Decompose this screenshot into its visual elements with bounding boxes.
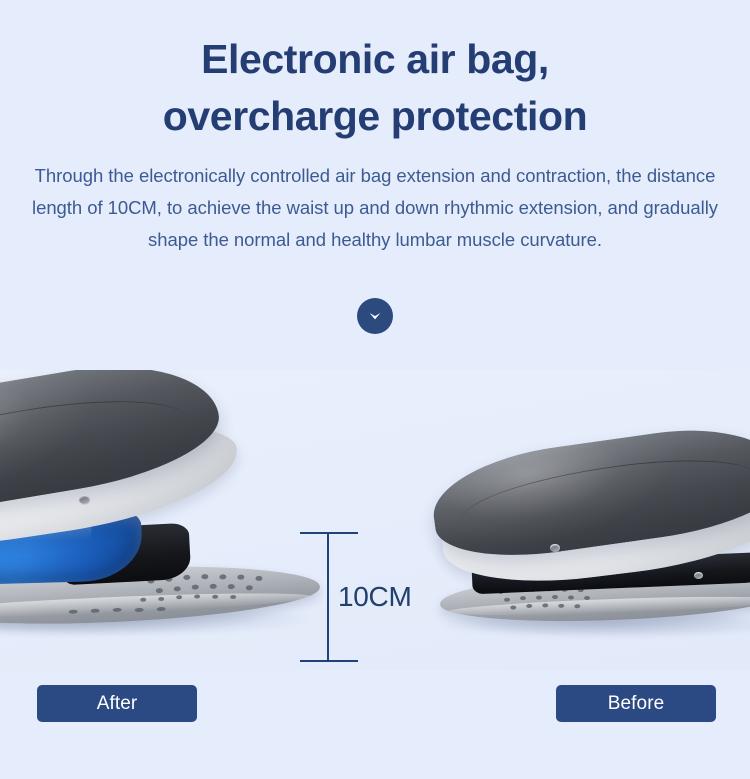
measurement-line-vertical [327,532,329,662]
tray-perforation [201,574,208,579]
tray-perforation [504,598,510,602]
measurement-label: 10CM [338,583,412,611]
tray-perforation [219,574,226,579]
measurement-tick-bottom [300,660,358,662]
device-before-port-dimple [550,544,560,552]
tray-perforation [552,595,558,599]
device-before [420,432,750,642]
page-subtitle: Through the electronically controlled ai… [25,144,725,255]
device-after-port-dimple [79,495,90,504]
tray-perforation [536,596,542,600]
page-title-line-1: Electronic air bag, [0,31,750,88]
tray-perforation [237,575,244,580]
tray-perforation [156,588,163,593]
device-after [0,370,350,640]
before-button[interactable]: Before [556,685,716,722]
measurement-tick-top [300,532,358,534]
page-title: Electronic air bag, overcharge protectio… [0,0,750,144]
after-button[interactable]: After [37,685,197,722]
measurement-annotation: 10CM [300,532,430,662]
header-section: Electronic air bag, overcharge protectio… [0,0,750,370]
device-before-port-dimple [694,572,703,579]
chevron-down-icon[interactable] [357,298,393,334]
tray-perforation [174,586,181,591]
tray-perforation [210,584,217,589]
scroll-arrow-container [0,298,750,334]
tray-perforation [255,576,262,581]
tray-perforation [246,585,253,590]
tray-perforation [568,595,574,599]
tray-perforation [520,596,526,600]
tray-perforation [228,584,235,589]
product-feature-page: Electronic air bag, overcharge protectio… [0,0,750,779]
comparison-label-row: After Before [0,670,750,779]
tray-perforation [192,584,199,589]
page-title-line-2: overcharge protection [0,88,750,145]
tray-perforation [183,575,190,580]
